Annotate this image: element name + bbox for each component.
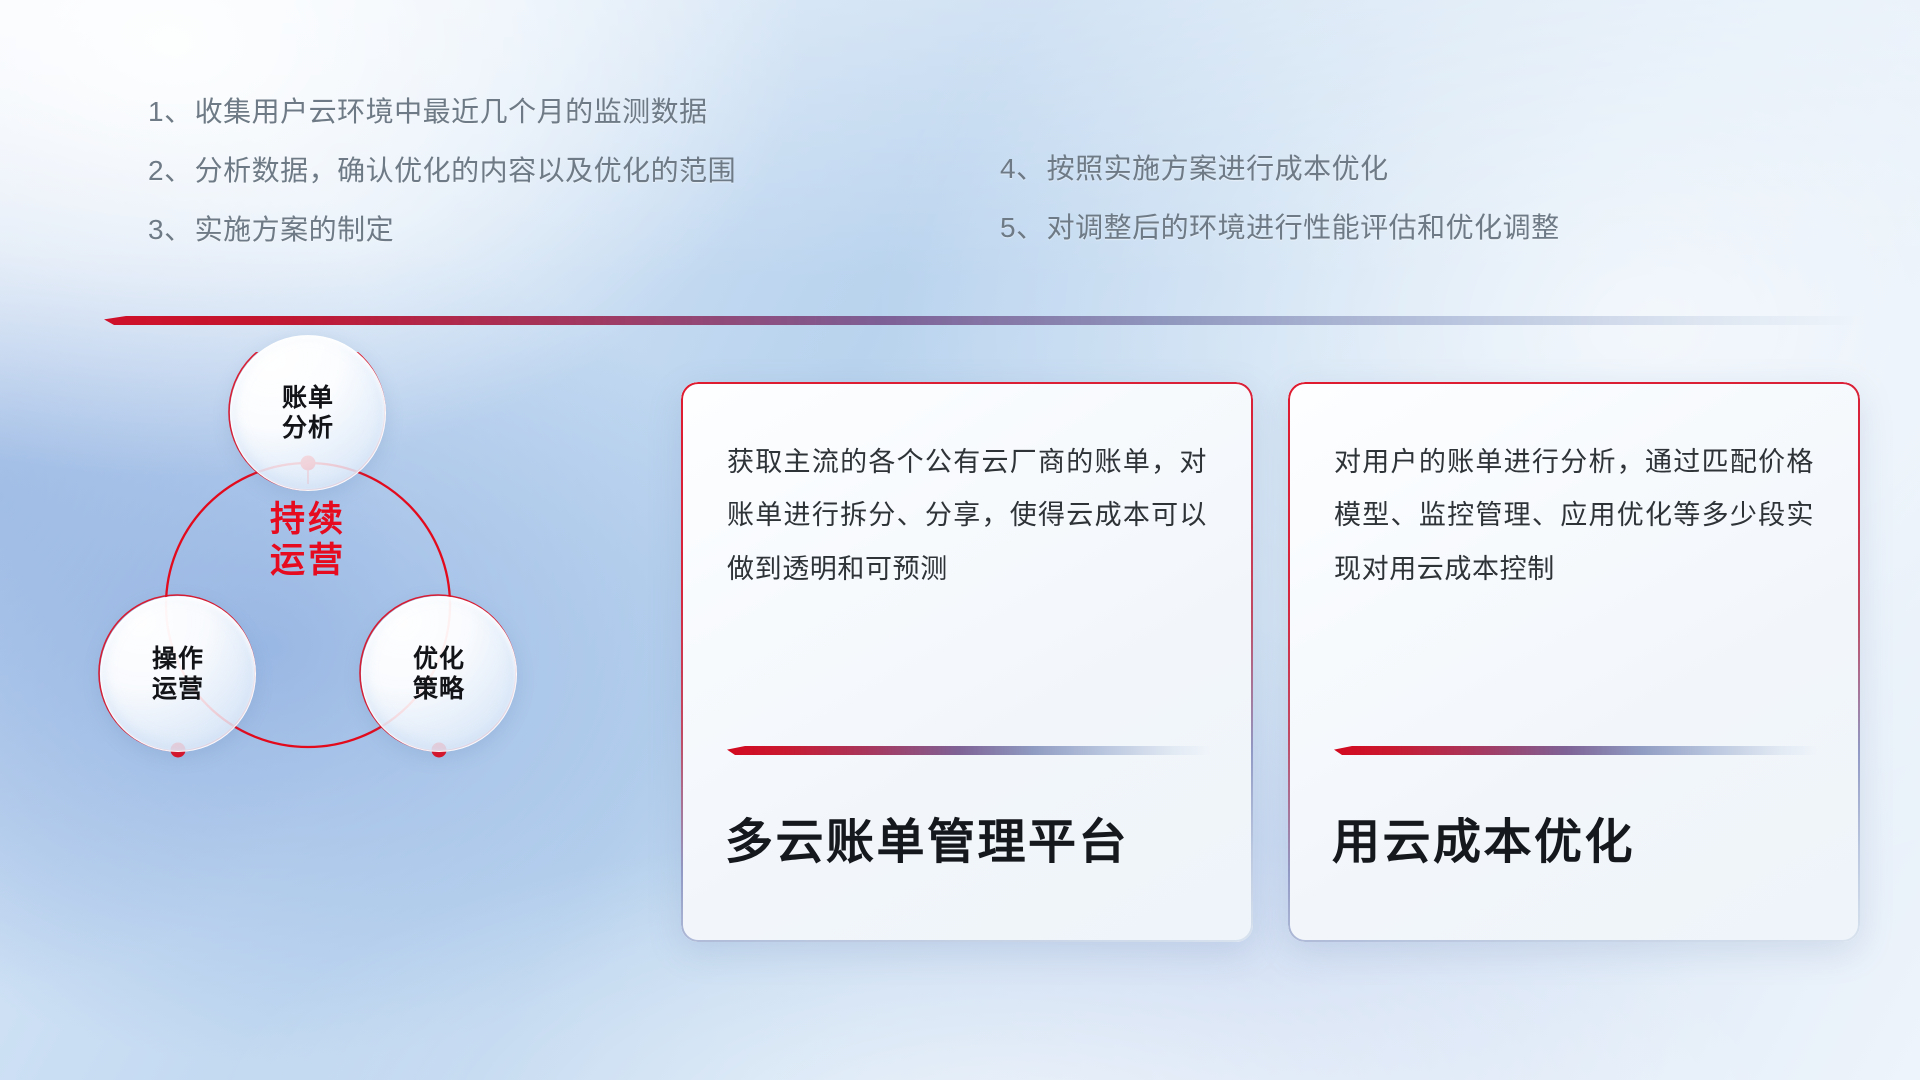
card-title: 用云成本优化 [1332, 802, 1635, 872]
card-divider-rule [727, 746, 1211, 755]
diagram-bubble-bill-analysis[interactable]: 账单 分析 [230, 335, 386, 491]
step-item-2: 2、 分析数据，确认优化的内容以及优化的范围 [148, 157, 736, 185]
card-body-text: 获取主流的各个公有云厂商的账单，对账单进行拆分、分享，使得云成本可以做到透明和可… [727, 436, 1207, 596]
steps-column-left: 1、 收集用户云环境中最近几个月的监测数据 2、 分析数据，确认优化的内容以及优… [148, 98, 736, 275]
step-item-3: 3、 实施方案的制定 [148, 216, 736, 244]
bubble-label-line2: 分析 [282, 413, 334, 444]
bubble-label-line2: 策略 [413, 674, 465, 705]
bubble-label-line1: 优化 [413, 644, 465, 675]
bubble-label-line1: 账单 [282, 383, 334, 414]
step-text-2: 分析数据，确认优化的内容以及优化的范围 [195, 157, 737, 185]
step-item-5: 5、 对调整后的环境进行性能评估和优化调整 [1000, 214, 1560, 242]
bubble-label-line1: 操作 [152, 644, 204, 675]
feature-card-cloud-cost-optimization[interactable]: 对用户的账单进行分析，通过匹配价格模型、监控管理、应用优化等多少段实现对用云成本… [1288, 382, 1860, 942]
diagram-bubble-operations[interactable]: 操作 运营 [100, 596, 256, 752]
diagram-bubble-optimization-strategy[interactable]: 优化 策略 [361, 596, 517, 752]
step-text-3: 实施方案的制定 [195, 216, 395, 244]
feature-card-multicloud-billing[interactable]: 获取主流的各个公有云厂商的账单，对账单进行拆分、分享，使得云成本可以做到透明和可… [681, 382, 1253, 942]
diagram-center-label: 持续 运营 [242, 482, 374, 598]
center-label-line2: 运营 [270, 540, 346, 581]
process-steps-list: 1、 收集用户云环境中最近几个月的监测数据 2、 分析数据，确认优化的内容以及优… [0, 0, 1920, 270]
card-body-text: 对用户的账单进行分析，通过匹配价格模型、监控管理、应用优化等多少段实现对用云成本… [1334, 436, 1814, 596]
step-text-4: 按照实施方案进行成本优化 [1047, 155, 1389, 183]
step-item-4: 4、 按照实施方案进行成本优化 [1000, 155, 1560, 183]
steps-column-right: 4、 按照实施方案进行成本优化 5、 对调整后的环境进行性能评估和优化调整 [1000, 155, 1560, 273]
section-divider-rule [104, 316, 1864, 325]
step-number-1: 1、 [148, 98, 193, 126]
step-item-1: 1、 收集用户云环境中最近几个月的监测数据 [148, 98, 736, 126]
card-title: 多云账单管理平台 [725, 802, 1129, 872]
step-number-2: 2、 [148, 157, 193, 185]
card-divider-rule [1334, 746, 1818, 755]
bubble-label-line2: 运营 [152, 674, 204, 705]
continuous-operations-diagram: 账单 分析 操作 运营 优化 策略 持续 运营 [96, 352, 576, 912]
step-text-5: 对调整后的环境进行性能评估和优化调整 [1047, 214, 1560, 242]
step-text-1: 收集用户云环境中最近几个月的监测数据 [195, 98, 708, 126]
step-number-5: 5、 [1000, 214, 1045, 242]
center-label-line1: 持续 [270, 499, 346, 540]
step-number-4: 4、 [1000, 155, 1045, 183]
step-number-3: 3、 [148, 216, 193, 244]
